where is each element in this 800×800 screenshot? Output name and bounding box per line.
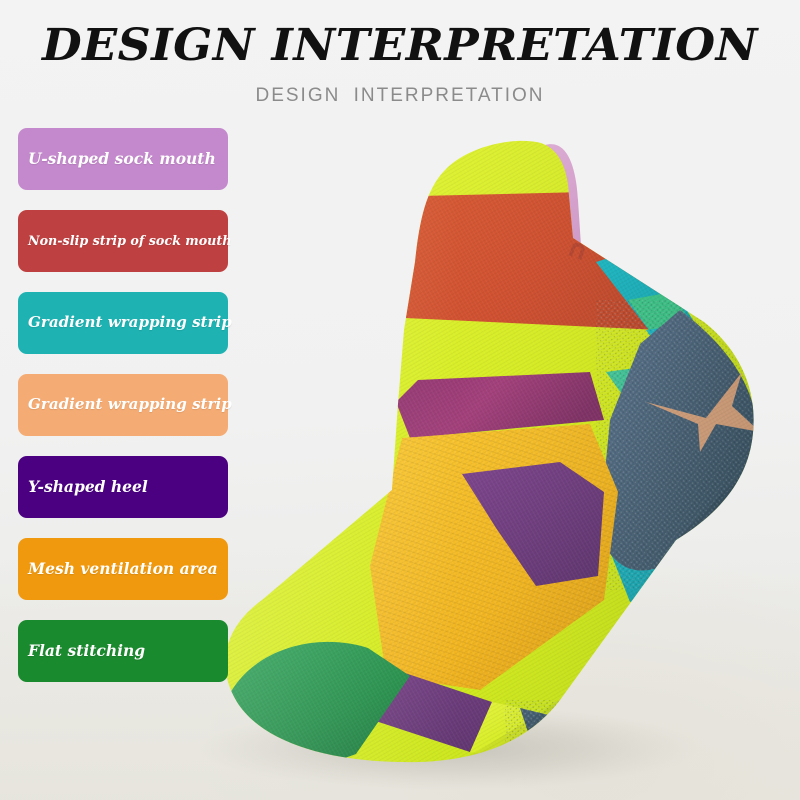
- page-title: DESIGN INTERPRETATION: [0, 24, 800, 68]
- label-text: Gradient wrapping strip: [18, 397, 232, 412]
- label-box-u-shaped-sock-mouth[interactable]: U-shaped sock mouth: [18, 128, 228, 190]
- page-subtitle: DESIGN INTERPRETATION: [0, 85, 800, 107]
- label-box-mesh-ventilation-area[interactable]: Mesh ventilation area: [18, 538, 228, 600]
- label-text: U-shaped sock mouth: [18, 151, 216, 167]
- label-box-gradient-wrapping-strip-2[interactable]: Gradient wrapping strip: [18, 374, 228, 436]
- label-box-non-slip-strip[interactable]: Non-slip strip of sock mouth: [18, 210, 228, 272]
- label-box-gradient-wrapping-strip-1[interactable]: Gradient wrapping strip: [18, 292, 228, 354]
- label-box-flat-stitching[interactable]: Flat stitching: [18, 620, 228, 682]
- label-box-y-shaped-heel[interactable]: Y-shaped heel: [18, 456, 228, 518]
- label-text: Mesh ventilation area: [18, 561, 218, 577]
- label-text: Gradient wrapping strip: [18, 315, 232, 330]
- label-text: Non-slip strip of sock mouth: [18, 235, 232, 248]
- header: DESIGN INTERPRETATION DESIGN INTERPRETAT…: [0, 0, 800, 107]
- label-text: Y-shaped heel: [18, 479, 148, 495]
- label-text: Flat stitching: [18, 643, 145, 659]
